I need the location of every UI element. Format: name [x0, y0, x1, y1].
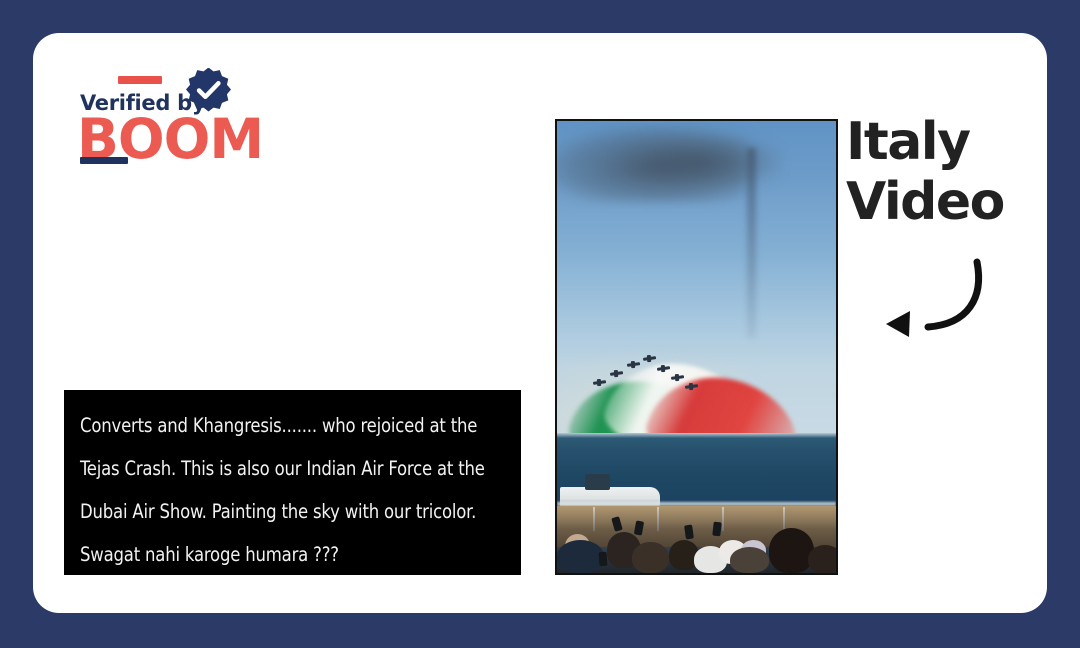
- video-thumbnail[interactable]: [555, 119, 838, 575]
- boat-cabin: [585, 474, 610, 489]
- raised-phone: [713, 522, 722, 537]
- spectator-head: [632, 542, 668, 573]
- sky-smoke-streak: [747, 148, 757, 338]
- page-title: Italy Video: [846, 112, 1046, 232]
- raised-phone: [634, 520, 644, 535]
- video-scene: [557, 121, 836, 573]
- raised-phone: [611, 516, 623, 532]
- caption-line-2: Tejas Crash. This is also our Indian Air…: [80, 447, 474, 490]
- crowd-region: [557, 505, 836, 573]
- logo-red-dash: [118, 76, 162, 84]
- raised-phone: [684, 525, 694, 540]
- title-line-2: Video: [846, 172, 1046, 232]
- spectator-body: [557, 540, 604, 573]
- caption-line-4: Swagat nahi karoge humara ???: [80, 533, 474, 576]
- caption-screenshot-box: Converts and Khangresis....... who rejoi…: [64, 390, 521, 575]
- logo-navy-underline: [80, 157, 128, 164]
- boom-logo: Verified by BOOM: [47, 36, 257, 171]
- spectator-head: [808, 545, 838, 573]
- poster-root: Verified by BOOM Converts and Khangresis…: [0, 0, 1080, 648]
- spectator-head: [769, 528, 814, 573]
- caption-line-3: Dubai Air Show. Painting the sky with ou…: [80, 490, 474, 533]
- spectator-head: [730, 547, 769, 573]
- curved-arrow-left-icon: [862, 240, 1002, 350]
- raised-phone: [598, 552, 607, 567]
- title-line-1: Italy: [846, 112, 1046, 172]
- horizon-line: [557, 433, 836, 438]
- caption-line-1: Converts and Khangresis....... who rejoi…: [80, 404, 474, 447]
